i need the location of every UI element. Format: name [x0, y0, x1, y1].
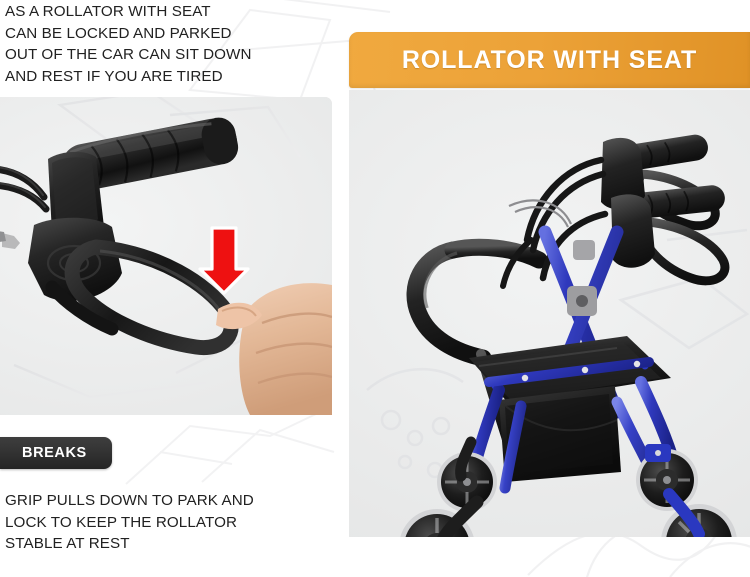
brake-lever-photo-panel	[0, 97, 332, 415]
wheel-rear-left	[437, 442, 497, 512]
rollator-photo-panel	[349, 90, 750, 537]
wheel-front-right	[661, 494, 737, 537]
intro-description-text: AS A ROLLATOR WITH SEAT CAN BE LOCKED AN…	[5, 1, 335, 87]
rollator-photo	[349, 90, 750, 537]
watermark-graphic-left-lower	[120, 412, 350, 492]
breaks-label-badge: BREAKS	[0, 437, 112, 469]
breaks-label-text: BREAKS	[22, 445, 87, 461]
product-feature-panel: AS A ROLLATOR WITH SEAT CAN BE LOCKED AN…	[0, 0, 750, 577]
brake-description-text: GRIP PULLS DOWN TO PARK AND LOCK TO KEEP…	[5, 490, 335, 555]
wheel-front-left	[399, 502, 477, 537]
brake-lever-photo	[0, 97, 332, 415]
rollator-banner: ROLLATOR WITH SEAT	[349, 32, 750, 88]
banner-title-text: ROLLATOR WITH SEAT	[402, 46, 697, 75]
